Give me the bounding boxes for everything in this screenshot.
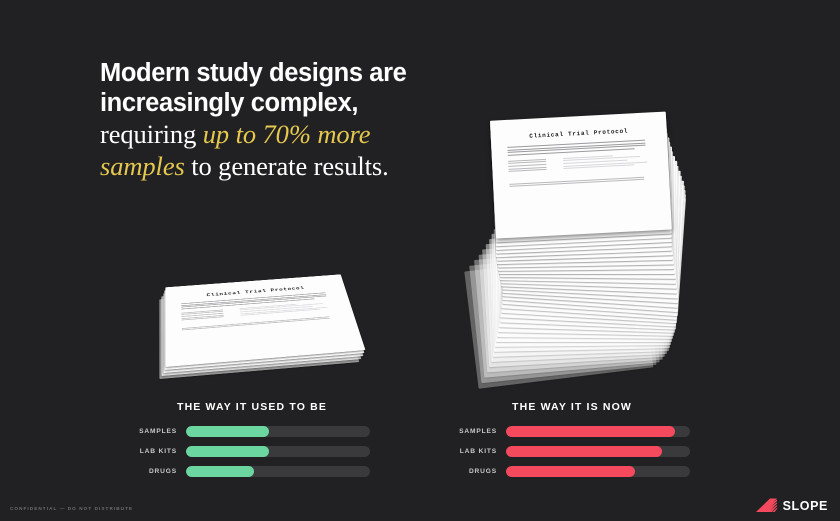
bar-label: LAB KITS	[454, 448, 506, 455]
metrics-panel-is-now: THE WAY IT IS NOW SAMPLES LAB KITS DRUGS	[454, 401, 690, 485]
bar-label: DRUGS	[134, 468, 186, 475]
bar-fill	[186, 426, 269, 437]
slide-canvas: Modern study designs are increasingly co…	[0, 0, 840, 521]
bar-row: LAB KITS	[134, 445, 370, 457]
confidential-note: CONFIDENTIAL — DO NOT DISTRIBUTE	[10, 506, 133, 511]
headline-line-4-suffix: to generate results.	[185, 151, 389, 181]
headline-line-2: increasingly complex,	[100, 88, 500, 118]
headline-line-3: requiring up to 70% more	[100, 118, 500, 150]
bar-track	[186, 446, 370, 457]
panel-title: THE WAY IT USED TO BE	[134, 401, 370, 413]
headline-block: Modern study designs are increasingly co…	[100, 58, 500, 182]
bar-row: DRUGS	[454, 465, 690, 477]
bar-fill	[506, 466, 635, 477]
paper-sheet-top: Clinical Trial Protocol	[490, 112, 672, 239]
bar-label: SAMPLES	[134, 428, 186, 435]
logo-text: SLOPE	[783, 499, 828, 513]
bar-row: LAB KITS	[454, 445, 690, 457]
bar-label: DRUGS	[454, 468, 506, 475]
bar-track	[186, 466, 370, 477]
document-stack-small: Clinical Trial Protocol	[148, 243, 392, 403]
bar-row: SAMPLES	[134, 425, 370, 437]
slope-logo: SLOPE	[754, 498, 828, 513]
page-content: Clinical Trial Protocol	[490, 112, 672, 239]
panel-title: THE WAY IT IS NOW	[454, 401, 690, 413]
headline-line-1: Modern study designs are	[100, 58, 500, 88]
bar-track	[186, 426, 370, 437]
document-stack-large: Clinical Trial Protocol	[462, 100, 718, 402]
bar-row: DRUGS	[134, 465, 370, 477]
bar-label: LAB KITS	[134, 448, 186, 455]
bar-label: SAMPLES	[454, 428, 506, 435]
headline-accent-1: up to 70% more	[203, 119, 371, 149]
bar-fill	[186, 466, 254, 477]
bar-track	[506, 426, 690, 437]
headline-line-3-prefix: requiring	[100, 119, 203, 149]
bar-track	[506, 446, 690, 457]
bar-fill	[506, 426, 675, 437]
slope-mark-icon	[754, 498, 778, 513]
headline-accent-2: samples	[100, 151, 185, 181]
headline-line-4: samples to generate results.	[100, 150, 500, 182]
bar-fill	[506, 446, 662, 457]
metrics-panel-used-to-be: THE WAY IT USED TO BE SAMPLES LAB KITS D…	[134, 401, 370, 485]
bar-fill	[186, 446, 269, 457]
document-title: Clinical Trial Protocol	[507, 126, 651, 141]
bar-track	[506, 466, 690, 477]
bar-row: SAMPLES	[454, 425, 690, 437]
